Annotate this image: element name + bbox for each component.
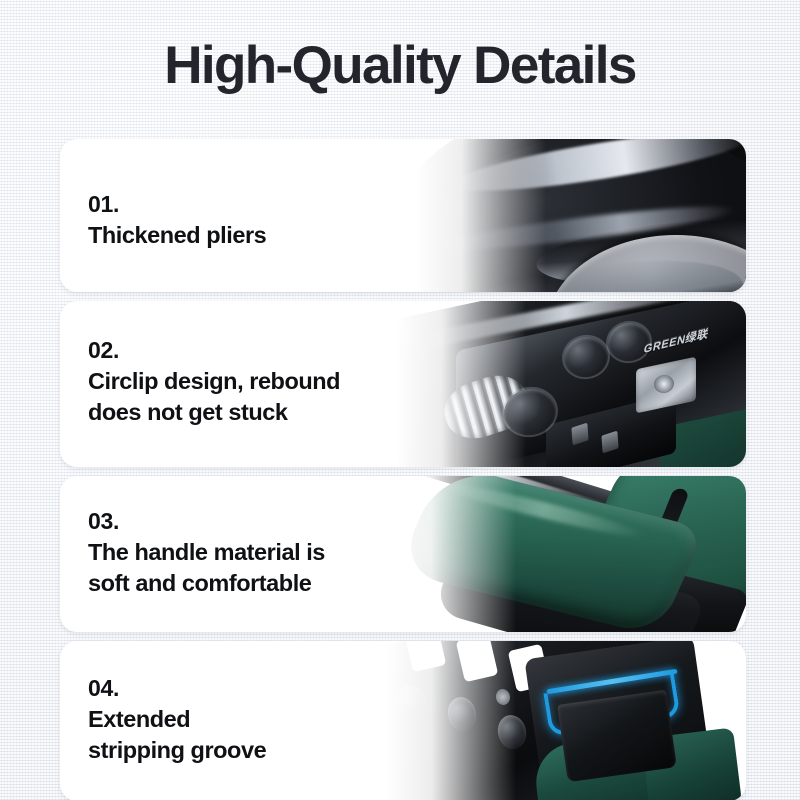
image-fade-overlay <box>386 641 516 800</box>
feature-image-02: GREEN绿联 <box>396 301 746 467</box>
feature-image-01 <box>416 139 746 292</box>
feature-text-01: 01. Thickened pliers <box>88 191 266 251</box>
feature-card-02[interactable]: GREEN绿联 02. Circlip design, rebound does… <box>60 301 746 467</box>
image-fade-overlay <box>416 139 546 292</box>
feature-number-01: 01. <box>88 191 266 218</box>
groove-block-shape <box>557 690 677 783</box>
feature-description-02: Circlip design, rebound does not get stu… <box>88 366 340 428</box>
feature-description-04: Extended stripping groove <box>88 704 266 766</box>
product-detail-page: High-Quality Details 01. Thickened plier… <box>0 0 800 800</box>
feature-card-03[interactable]: 03. The handle material is soft and comf… <box>60 476 746 632</box>
feature-number-02: 02. <box>88 337 340 364</box>
feature-description-03: The handle material is soft and comforta… <box>88 537 325 599</box>
feature-card-01[interactable]: 01. Thickened pliers <box>60 139 746 292</box>
feature-number-03: 03. <box>88 508 325 535</box>
feature-card-list: 01. Thickened pliers GREEN绿联 <box>60 139 746 800</box>
feature-description-01: Thickened pliers <box>88 220 266 251</box>
feature-text-02: 02. Circlip design, rebound does not get… <box>88 337 340 428</box>
page-title-container: High-Quality Details <box>0 38 800 94</box>
feature-text-04: 04. Extended stripping groove <box>88 675 266 766</box>
feature-card-04[interactable]: 04. Extended stripping groove <box>60 641 746 800</box>
feature-text-03: 03. The handle material is soft and comf… <box>88 508 325 599</box>
feature-image-04 <box>386 641 746 800</box>
image-fade-overlay <box>396 301 526 467</box>
feature-number-04: 04. <box>88 675 266 702</box>
page-title: High-Quality Details <box>0 38 800 94</box>
image-fade-overlay <box>386 476 516 632</box>
feature-image-03 <box>386 476 746 632</box>
